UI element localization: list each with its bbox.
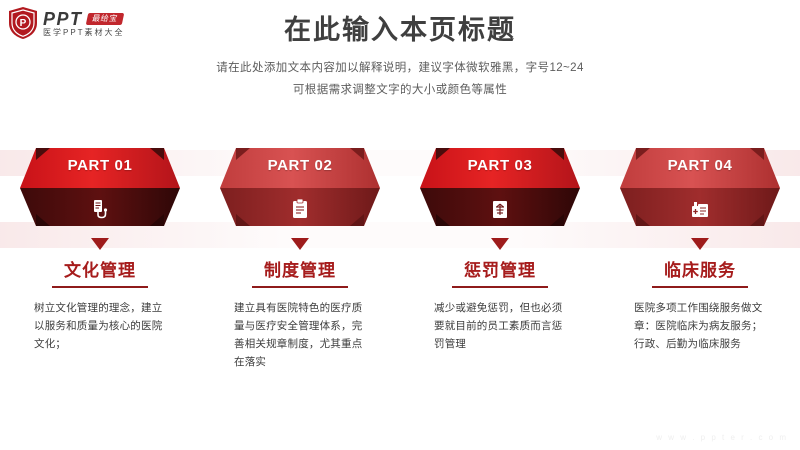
part-body-1: 树立文化管理的理念，建立以服务和质量为核心的医院文化；: [34, 299, 166, 353]
part-body-4: 医院多项工作围绕服务做文章：医院临床为病友服务；行政、后勤为临床服务: [634, 299, 766, 353]
part-heading-3: 惩罚管理: [464, 262, 536, 281]
part-heading-4: 临床服务: [664, 262, 736, 281]
heading-rule-2: [252, 286, 348, 288]
down-arrow-1: [91, 238, 109, 250]
part-body-2: 建立具有医院特色的医疗质量与医疗安全管理体系，完善相关规章制度，尤其重点在落实: [234, 299, 366, 371]
subtitle-line-1: 请在此处添加文本内容加以解释说明，建议字体微软雅黑，字号12~24: [0, 58, 800, 79]
subtitle-line-2: 可根据需求调整文字的大小或颜色等属性: [0, 80, 800, 101]
part-banner-3[interactable]: PART 03: [420, 146, 580, 230]
part-banner-1[interactable]: PART 01: [20, 146, 180, 230]
part-banner-2[interactable]: PART 02: [220, 146, 380, 230]
down-arrow-3: [491, 238, 509, 250]
page-title: 在此输入本页标题: [0, 14, 800, 46]
part-heading-1: 文化管理: [64, 262, 136, 281]
down-arrow-4: [691, 238, 709, 250]
part-heading-2: 制度管理: [264, 262, 336, 281]
heading-rule-1: [52, 286, 148, 288]
heading-rule-3: [452, 286, 548, 288]
part-body-3: 减少或避免惩罚，但也必须要就目前的员工素质而言惩罚管理: [434, 299, 566, 353]
page-subtitle: 请在此处添加文本内容加以解释说明，建议字体微软雅黑，字号12~24 可根据需求调…: [0, 58, 800, 101]
parts-row: PART 01 文化管理 树立文化管理的理念，建立以服务和质量为核心的医院文化；: [0, 146, 800, 371]
part-column-2[interactable]: PART 02 制度管理 建立具有医院特色的医疗质量与医疗安全管理体系，完善相关…: [200, 146, 400, 371]
part-column-1[interactable]: PART 01 文化管理 树立文化管理的理念，建立以服务和质量为核心的医院文化；: [0, 146, 200, 371]
part-banner-4[interactable]: PART 04: [620, 146, 780, 230]
heading-rule-4: [652, 286, 748, 288]
page-header: 在此输入本页标题 请在此处添加文本内容加以解释说明，建议字体微软雅黑，字号12~…: [0, 14, 800, 101]
part-column-4[interactable]: PART 04 临床服务 医院多项工作围绕服务做文章：医院临床为病友服务；行政、…: [600, 146, 800, 371]
footer-watermark: w w w . p p t e r . c o m: [656, 433, 788, 442]
down-arrow-2: [291, 238, 309, 250]
part-column-3[interactable]: PART 03 惩罚管理 减少或避免惩罚，但也必须要就目前的员工素质而言惩罚管理: [400, 146, 600, 371]
